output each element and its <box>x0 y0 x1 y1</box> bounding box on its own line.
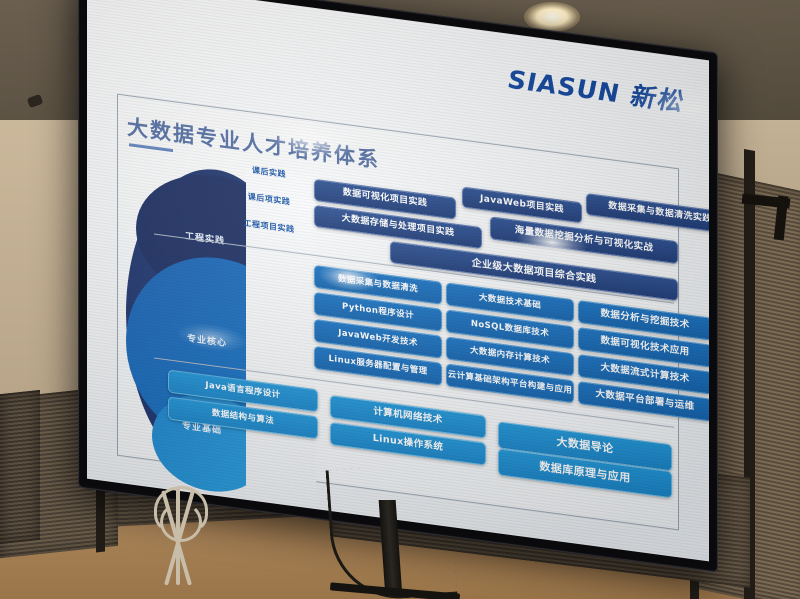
course-box: 数据采集与数据清洗实践 <box>586 193 709 235</box>
photo-scene: SIASUN 新松 大数据专业人才培养体系 工程实践 专业核心 专业基础 <box>0 0 800 599</box>
stage-list: 课后实践课后项实践工程项目实践 <box>236 162 302 252</box>
course-box: JavaWeb项目实践 <box>462 187 582 224</box>
stage-label: 工程项目实践 <box>236 216 302 236</box>
siasun-logo: SIASUN 新松 <box>508 60 683 119</box>
stand-scrollwork <box>160 502 202 542</box>
stage-label: 课后项实践 <box>236 189 302 209</box>
decorative-easel-stand <box>148 480 208 585</box>
brand-name-en: SIASUN <box>508 65 620 109</box>
brand-name-cn: 新松 <box>629 76 683 119</box>
stage-label: 课后实践 <box>236 162 302 182</box>
window-blinds-far-left <box>0 390 40 544</box>
